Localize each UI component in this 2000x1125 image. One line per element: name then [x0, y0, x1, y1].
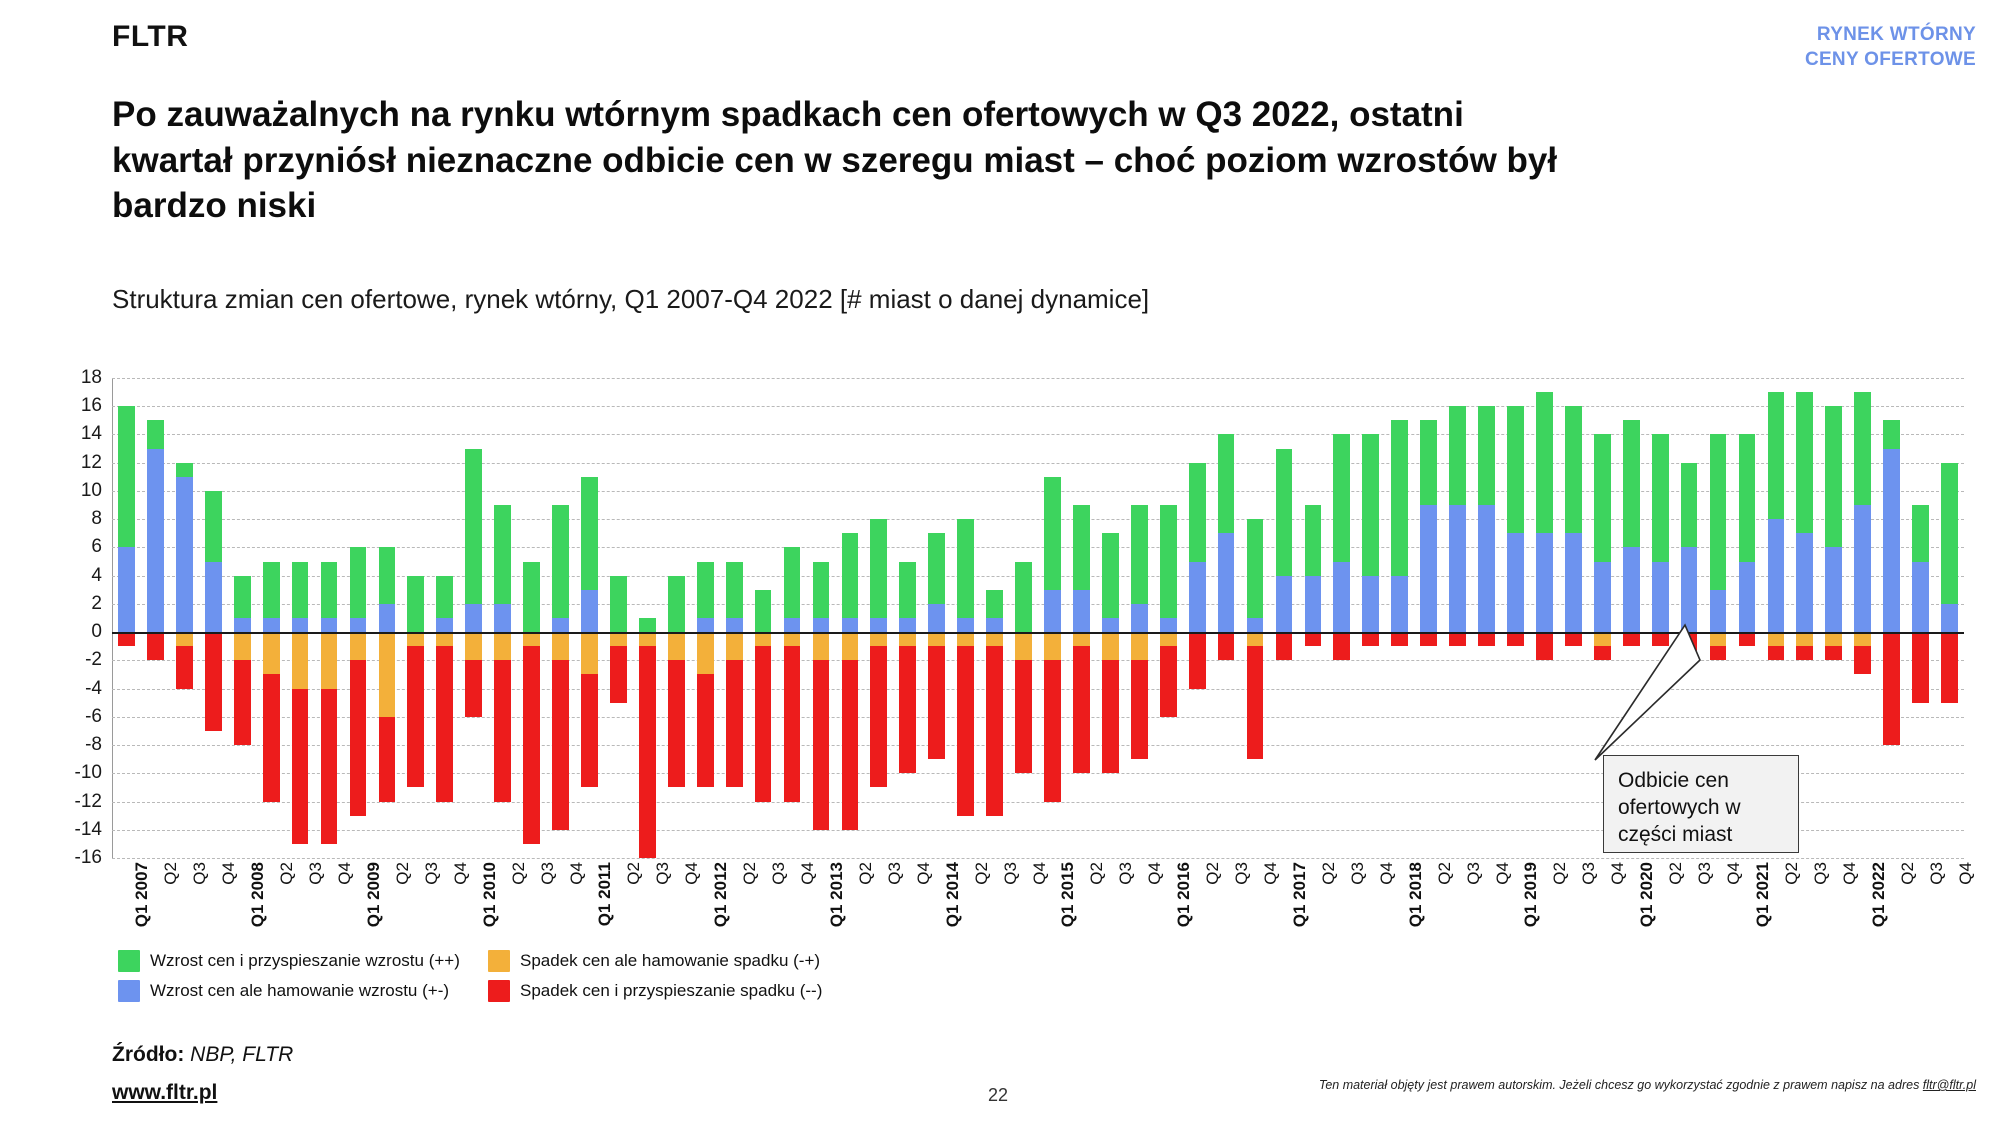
bar-group[interactable]	[234, 378, 251, 858]
bar-segment-growth-accelerating	[292, 562, 309, 618]
x-axis-quarter: Q1	[364, 905, 383, 928]
bar-segment-growth-slowing	[1102, 618, 1119, 632]
x-axis-year: 2019	[1521, 862, 1540, 905]
bar-group[interactable]	[1825, 378, 1842, 858]
bar-segment-growth-accelerating	[1449, 406, 1466, 505]
bar-segment-growth-slowing	[118, 547, 135, 632]
legend-item[interactable]: Spadek cen ale hamowanie spadku (-+)	[488, 946, 858, 976]
bar-segment-growth-accelerating	[1189, 463, 1206, 562]
bar-segment-growth-slowing	[379, 604, 396, 632]
y-axis-tick: -8	[85, 734, 102, 756]
x-axis-label: Q4	[1493, 862, 1513, 885]
x-axis-label: Q3	[1927, 862, 1947, 885]
bar-segment-growth-accelerating	[379, 547, 396, 603]
y-axis-tick: -14	[75, 819, 102, 841]
bar-segment-growth-slowing	[494, 604, 511, 632]
bar-segment-growth-slowing	[784, 618, 801, 632]
x-axis-quarter: Q2	[1435, 862, 1454, 885]
bar-segment-growth-slowing	[1276, 576, 1293, 632]
bar-segment-growth-slowing	[1420, 505, 1437, 632]
bar-segment-decline-slowing	[379, 632, 396, 717]
bar-group[interactable]	[726, 378, 743, 858]
x-axis-quarter: Q1	[1174, 905, 1193, 928]
bar-segment-growth-accelerating	[581, 477, 598, 590]
x-axis-label: Q2	[624, 862, 644, 885]
x-axis-label: Q1 2020	[1637, 862, 1657, 927]
bar-group[interactable]	[1218, 378, 1235, 858]
x-axis-label: Q3	[1695, 862, 1715, 885]
x-axis-label: Q3	[1116, 862, 1136, 885]
bar-segment-growth-accelerating	[1912, 505, 1929, 561]
bar-segment-growth-slowing	[899, 618, 916, 632]
x-axis-label: Q1 2018	[1406, 862, 1426, 927]
bar-group[interactable]	[957, 378, 974, 858]
bar-group[interactable]	[813, 378, 830, 858]
bar-segment-decline-accelerating	[870, 646, 887, 787]
bar-segment-growth-accelerating	[813, 562, 830, 618]
bar-segment-growth-slowing	[928, 604, 945, 632]
callout-pointer	[1590, 620, 1850, 770]
x-axis-label: Q4	[567, 862, 587, 885]
x-axis-label: Q3	[1001, 862, 1021, 885]
bar-segment-growth-accelerating	[610, 576, 627, 632]
x-axis-label: Q3	[1348, 862, 1368, 885]
bar-segment-decline-accelerating	[1333, 632, 1350, 660]
bar-group[interactable]	[581, 378, 598, 858]
y-axis-tick: -6	[85, 706, 102, 728]
x-axis-quarter: Q4	[1724, 862, 1743, 885]
bar-segment-decline-slowing	[755, 632, 772, 646]
bar-segment-decline-accelerating	[1391, 632, 1408, 646]
x-axis-label: Q4	[1724, 862, 1744, 885]
x-axis-quarter: Q1	[1869, 905, 1888, 928]
x-axis-quarter: Q1	[1290, 905, 1309, 928]
bar-segment-growth-accelerating	[1768, 392, 1785, 519]
bar-segment-growth-accelerating	[1391, 420, 1408, 575]
bar-segment-growth-slowing	[147, 449, 164, 633]
bar-group[interactable]	[1189, 378, 1206, 858]
bar-segment-decline-accelerating	[639, 646, 656, 858]
x-axis-label: Q4	[1030, 862, 1050, 885]
bar-segment-decline-accelerating	[552, 660, 569, 829]
legend-item[interactable]: Wzrost cen ale hamowanie wzrostu (+-)	[118, 976, 488, 1006]
y-axis-tick: -2	[85, 649, 102, 671]
bar-segment-decline-accelerating	[1218, 632, 1235, 660]
bar-segment-decline-slowing	[697, 632, 714, 674]
bar-segment-growth-slowing	[870, 618, 887, 632]
x-axis-quarter: Q4	[219, 862, 238, 885]
bar-group[interactable]	[697, 378, 714, 858]
bar-segment-decline-accelerating	[755, 646, 772, 801]
x-axis-year: 2018	[1406, 862, 1425, 905]
bar-segment-decline-accelerating	[1073, 646, 1090, 773]
x-axis-label: Q4	[914, 862, 934, 885]
bar-group[interactable]	[1420, 378, 1437, 858]
bar-segment-growth-accelerating	[1594, 434, 1611, 561]
bar-group[interactable]	[1507, 378, 1524, 858]
x-axis-year: 2014	[943, 862, 962, 905]
bar-segment-growth-accelerating	[784, 547, 801, 618]
x-axis-label: Q4	[451, 862, 471, 885]
legend-label: Wzrost cen ale hamowanie wzrostu (+-)	[150, 981, 449, 1001]
bar-group[interactable]	[1131, 378, 1148, 858]
bar-group[interactable]	[668, 378, 685, 858]
copyright-text: Ten materiał objęty jest prawem autorski…	[1319, 1078, 1923, 1092]
bar-group[interactable]	[523, 378, 540, 858]
bar-group[interactable]	[1276, 378, 1293, 858]
x-axis-quarter: Q2	[161, 862, 180, 885]
bar-segment-growth-accelerating	[350, 547, 367, 618]
bar-segment-decline-accelerating	[1536, 632, 1553, 660]
bar-segment-growth-accelerating	[899, 562, 916, 618]
x-axis-quarter: Q3	[769, 862, 788, 885]
bar-group[interactable]	[1073, 378, 1090, 858]
website-link[interactable]: www.fltr.pl	[112, 1081, 217, 1105]
bar-segment-decline-slowing	[1044, 632, 1061, 660]
x-axis-quarter: Q4	[1377, 862, 1396, 885]
bar-segment-growth-accelerating	[668, 576, 685, 632]
bar-segment-growth-accelerating	[263, 562, 280, 618]
bar-group[interactable]	[784, 378, 801, 858]
bar-segment-decline-accelerating	[379, 717, 396, 802]
x-axis-quarter: Q3	[1001, 862, 1020, 885]
x-axis-label: Q1 2010	[480, 862, 500, 927]
bar-group[interactable]	[1391, 378, 1408, 858]
bar-group[interactable]	[755, 378, 772, 858]
y-axis-tick: 10	[81, 480, 102, 502]
copyright-note: Ten materiał objęty jest prawem autorski…	[1319, 1078, 1976, 1092]
bar-segment-decline-accelerating	[350, 660, 367, 815]
y-axis-tick: 18	[81, 367, 102, 389]
bar-group[interactable]	[407, 378, 424, 858]
bar-segment-decline-slowing	[407, 632, 424, 646]
bar-group[interactable]	[1015, 378, 1032, 858]
bar-group[interactable]	[610, 378, 627, 858]
x-axis-quarter: Q3	[885, 862, 904, 885]
kicker-line-2: CENY OFERTOWE	[1805, 47, 1976, 72]
bar-segment-decline-accelerating	[957, 646, 974, 815]
x-axis-year: 2020	[1637, 862, 1656, 905]
bar-segment-growth-accelerating	[1073, 505, 1090, 590]
x-axis-label: Q2	[1782, 862, 1802, 885]
bar-group[interactable]	[350, 378, 367, 858]
x-axis-quarter: Q2	[972, 862, 991, 885]
bar-segment-decline-slowing	[1247, 632, 1264, 646]
bar-group[interactable]	[1854, 378, 1871, 858]
bar-segment-decline-accelerating	[1565, 632, 1582, 646]
bar-segment-growth-slowing	[1189, 562, 1206, 633]
x-axis-label: Q2	[1550, 862, 1570, 885]
bar-segment-decline-accelerating	[263, 674, 280, 801]
bar-group[interactable]	[292, 378, 309, 858]
x-axis-quarter: Q3	[538, 862, 557, 885]
bar-group[interactable]	[1305, 378, 1322, 858]
source-label: Źródło:	[112, 1043, 184, 1066]
header-kicker: RYNEK WTÓRNY CENY OFERTOWE	[1805, 22, 1976, 72]
bar-group[interactable]	[870, 378, 887, 858]
y-axis-tick: -4	[85, 678, 102, 700]
bar-group[interactable]	[436, 378, 453, 858]
legend-swatch-pn	[118, 980, 140, 1002]
x-axis-year: 2011	[595, 862, 614, 904]
bar-segment-decline-accelerating	[1044, 660, 1061, 801]
bar-segment-growth-accelerating	[986, 590, 1003, 618]
bar-segment-growth-accelerating	[407, 576, 424, 632]
x-axis-label: Q4	[682, 862, 702, 885]
x-axis-quarter: Q4	[1840, 862, 1859, 885]
bar-segment-decline-accelerating	[1883, 632, 1900, 745]
grid-line	[112, 858, 1964, 859]
page-title: Po zauważalnych na rynku wtórnym spadkac…	[112, 92, 1592, 229]
bar-group[interactable]	[1478, 378, 1495, 858]
bar-segment-decline-accelerating	[494, 660, 511, 801]
bar-segment-growth-slowing	[234, 618, 251, 632]
x-axis-label: Q3	[306, 862, 326, 885]
bar-segment-growth-accelerating	[1854, 392, 1871, 505]
x-axis-quarter: Q2	[1782, 862, 1801, 885]
bar-group[interactable]	[928, 378, 945, 858]
bar-segment-decline-accelerating	[1362, 632, 1379, 646]
bar-group[interactable]	[1362, 378, 1379, 858]
bar-group[interactable]	[1883, 378, 1900, 858]
x-axis-label: Q1 2019	[1521, 862, 1541, 927]
bar-segment-growth-accelerating	[1623, 420, 1640, 547]
bar-segment-decline-slowing	[523, 632, 540, 646]
bar-segment-decline-accelerating	[292, 689, 309, 844]
y-axis-tick: 6	[91, 536, 102, 558]
bar-segment-growth-slowing	[1073, 590, 1090, 632]
bar-segment-decline-accelerating	[205, 632, 222, 731]
bar-group[interactable]	[465, 378, 482, 858]
bar-segment-decline-accelerating	[581, 674, 598, 787]
x-axis-quarter: Q4	[1261, 862, 1280, 885]
bar-group[interactable]	[1536, 378, 1553, 858]
x-axis-quarter: Q3	[422, 862, 441, 885]
x-axis-quarter: Q3	[1579, 862, 1598, 885]
bar-group[interactable]	[1102, 378, 1119, 858]
callout-box: Odbicie cen ofertowych w części miast	[1603, 755, 1799, 853]
bar-group[interactable]	[1941, 378, 1958, 858]
bar-segment-decline-accelerating	[147, 632, 164, 660]
bar-segment-decline-accelerating	[928, 646, 945, 759]
bar-segment-decline-slowing	[726, 632, 743, 660]
bar-segment-decline-accelerating	[407, 646, 424, 787]
bar-group[interactable]	[147, 378, 164, 858]
bar-segment-growth-accelerating	[436, 576, 453, 618]
x-axis-quarter: Q1	[480, 905, 499, 928]
bar-segment-decline-accelerating	[610, 646, 627, 702]
x-axis-year: 2012	[711, 862, 730, 905]
x-axis-label: Q1 2014	[943, 862, 963, 927]
bar-group[interactable]	[118, 378, 135, 858]
bar-group[interactable]	[1565, 378, 1582, 858]
bar-segment-growth-slowing	[957, 618, 974, 632]
x-axis-label: Q4	[335, 862, 355, 885]
x-axis-label: Q2	[509, 862, 529, 885]
bar-segment-growth-slowing	[1044, 590, 1061, 632]
x-axis-year: 2015	[1058, 862, 1077, 905]
bar-segment-growth-slowing	[1912, 562, 1929, 633]
bar-segment-decline-slowing	[1073, 632, 1090, 646]
bar-segment-decline-accelerating	[1247, 646, 1264, 759]
bar-segment-decline-slowing	[899, 632, 916, 646]
bar-segment-growth-slowing	[1218, 533, 1235, 632]
bar-group[interactable]	[263, 378, 280, 858]
bar-segment-decline-accelerating	[899, 646, 916, 773]
x-axis-quarter: Q1	[595, 904, 614, 927]
bar-segment-growth-accelerating	[147, 420, 164, 448]
bar-segment-growth-accelerating	[1941, 463, 1958, 604]
bar-group[interactable]	[321, 378, 338, 858]
bar-segment-growth-slowing	[1333, 562, 1350, 633]
x-axis-quarter: Q1	[1058, 905, 1077, 928]
x-axis-label: Q2	[740, 862, 760, 885]
bar-segment-growth-accelerating	[1420, 420, 1437, 505]
y-axis-tick: -16	[75, 847, 102, 869]
bar-segment-growth-accelerating	[1883, 420, 1900, 448]
bar-group[interactable]	[552, 378, 569, 858]
bar-group[interactable]	[176, 378, 193, 858]
bar-segment-decline-slowing	[870, 632, 887, 646]
y-axis-tick: -12	[75, 791, 102, 813]
x-axis-quarter: Q1	[711, 905, 730, 928]
bar-segment-decline-slowing	[1102, 632, 1119, 660]
x-axis-label: Q3	[538, 862, 558, 885]
x-axis-label: Q3	[885, 862, 905, 885]
x-axis-label: Q4	[1145, 862, 1165, 885]
bar-segment-growth-accelerating	[205, 491, 222, 562]
x-axis-quarter: Q2	[1087, 862, 1106, 885]
bar-segment-decline-accelerating	[813, 660, 830, 829]
bar-group[interactable]	[842, 378, 859, 858]
x-axis-year: 2009	[364, 862, 383, 905]
bar-group[interactable]	[1044, 378, 1061, 858]
bar-segment-growth-accelerating	[321, 562, 338, 618]
bar-segment-decline-accelerating	[436, 646, 453, 801]
x-axis-label: Q1 2009	[364, 862, 384, 927]
x-axis-quarter: Q3	[1348, 862, 1367, 885]
bar-group[interactable]	[1912, 378, 1929, 858]
x-axis-quarter: Q3	[1116, 862, 1135, 885]
bar-segment-decline-accelerating	[1160, 646, 1177, 717]
copyright-email[interactable]: fltr@fltr.pl	[1923, 1078, 1976, 1092]
bar-segment-growth-slowing	[321, 618, 338, 632]
x-axis-quarter: Q4	[682, 862, 701, 885]
bar-group[interactable]	[494, 378, 511, 858]
legend-item[interactable]: Wzrost cen i przyspieszanie wzrostu (++)	[118, 946, 488, 976]
bar-segment-decline-slowing	[610, 632, 627, 646]
bar-segment-growth-accelerating	[494, 505, 511, 604]
bar-segment-growth-accelerating	[1247, 519, 1264, 618]
bar-group[interactable]	[986, 378, 1003, 858]
bar-segment-growth-accelerating	[465, 449, 482, 604]
bar-segment-decline-slowing	[465, 632, 482, 660]
bar-group[interactable]	[379, 378, 396, 858]
bar-segment-decline-slowing	[813, 632, 830, 660]
bar-segment-growth-accelerating	[1131, 505, 1148, 604]
bar-segment-decline-accelerating	[1131, 660, 1148, 759]
bar-segment-growth-slowing	[1362, 576, 1379, 632]
x-axis-quarter: Q4	[1608, 862, 1627, 885]
x-axis-quarter: Q1	[827, 905, 846, 928]
bar-segment-decline-slowing	[234, 632, 251, 660]
x-axis-label: Q1 2013	[827, 862, 847, 927]
bar-group[interactable]	[1333, 378, 1350, 858]
x-axis-label: Q1 2016	[1174, 862, 1194, 927]
bar-segment-decline-accelerating	[321, 689, 338, 844]
bar-segment-growth-accelerating	[1825, 406, 1842, 547]
x-axis-label: Q4	[1956, 862, 1976, 885]
x-axis-quarter: Q4	[1956, 862, 1975, 885]
bar-segment-growth-accelerating	[697, 562, 714, 618]
bar-segment-decline-accelerating	[176, 646, 193, 688]
bar-group[interactable]	[1449, 378, 1466, 858]
bar-segment-decline-slowing	[494, 632, 511, 660]
x-axis-quarter: Q2	[1666, 862, 1685, 885]
legend-item[interactable]: Spadek cen i przyspieszanie spadku (--)	[488, 976, 858, 1006]
bar-segment-growth-slowing	[1247, 618, 1264, 632]
bar-group[interactable]	[639, 378, 656, 858]
bar-segment-growth-accelerating	[1015, 562, 1032, 633]
bar-segment-growth-slowing	[1131, 604, 1148, 632]
bar-segment-decline-slowing	[1015, 632, 1032, 660]
bar-group[interactable]	[205, 378, 222, 858]
x-axis-label: Q3	[1464, 862, 1484, 885]
bar-segment-growth-accelerating	[176, 463, 193, 477]
bar-segment-growth-accelerating	[1276, 449, 1293, 576]
bar-segment-decline-accelerating	[1102, 660, 1119, 773]
x-axis-label: Q4	[798, 862, 818, 885]
bar-segment-decline-accelerating	[726, 660, 743, 787]
y-axis-tick: 16	[81, 395, 102, 417]
bar-group[interactable]	[1160, 378, 1177, 858]
x-axis-quarter: Q1	[1406, 905, 1425, 928]
bar-segment-decline-accelerating	[986, 646, 1003, 815]
bar-group[interactable]	[1247, 378, 1264, 858]
x-axis-label: Q4	[1377, 862, 1397, 885]
x-axis-quarter: Q3	[306, 862, 325, 885]
bar-segment-decline-slowing	[350, 632, 367, 660]
x-axis-quarter: Q1	[1637, 905, 1656, 928]
x-axis-label: Q2	[1898, 862, 1918, 885]
bar-group[interactable]	[899, 378, 916, 858]
x-axis-label: Q2	[393, 862, 413, 885]
bar-segment-growth-accelerating	[118, 406, 135, 547]
bar-segment-decline-slowing	[1854, 632, 1871, 646]
bar-segment-growth-accelerating	[1362, 434, 1379, 575]
bar-segment-growth-slowing	[842, 618, 859, 632]
bar-segment-growth-accelerating	[552, 505, 569, 618]
x-axis-quarter: Q4	[1493, 862, 1512, 885]
x-axis-quarter: Q2	[1550, 862, 1569, 885]
bar-segment-growth-slowing	[813, 618, 830, 632]
bar-segment-growth-slowing	[697, 618, 714, 632]
bar-segment-decline-slowing	[784, 632, 801, 646]
x-axis-label: Q1 2007	[132, 862, 152, 927]
x-axis-quarter: Q1	[943, 905, 962, 928]
x-axis-label: Q3	[653, 862, 673, 885]
source-note: Źródło: NBP, FLTR	[112, 1043, 293, 1067]
bar-segment-growth-accelerating	[1160, 505, 1177, 618]
x-axis-label: Q3	[1811, 862, 1831, 885]
x-axis-label: Q3	[1579, 862, 1599, 885]
legend-label: Spadek cen ale hamowanie spadku (-+)	[520, 951, 820, 971]
x-axis-quarter: Q3	[190, 862, 209, 885]
x-axis-label: Q4	[1261, 862, 1281, 885]
bar-segment-decline-slowing	[581, 632, 598, 674]
bar-segment-growth-slowing	[465, 604, 482, 632]
x-axis-label: Q4	[219, 862, 239, 885]
